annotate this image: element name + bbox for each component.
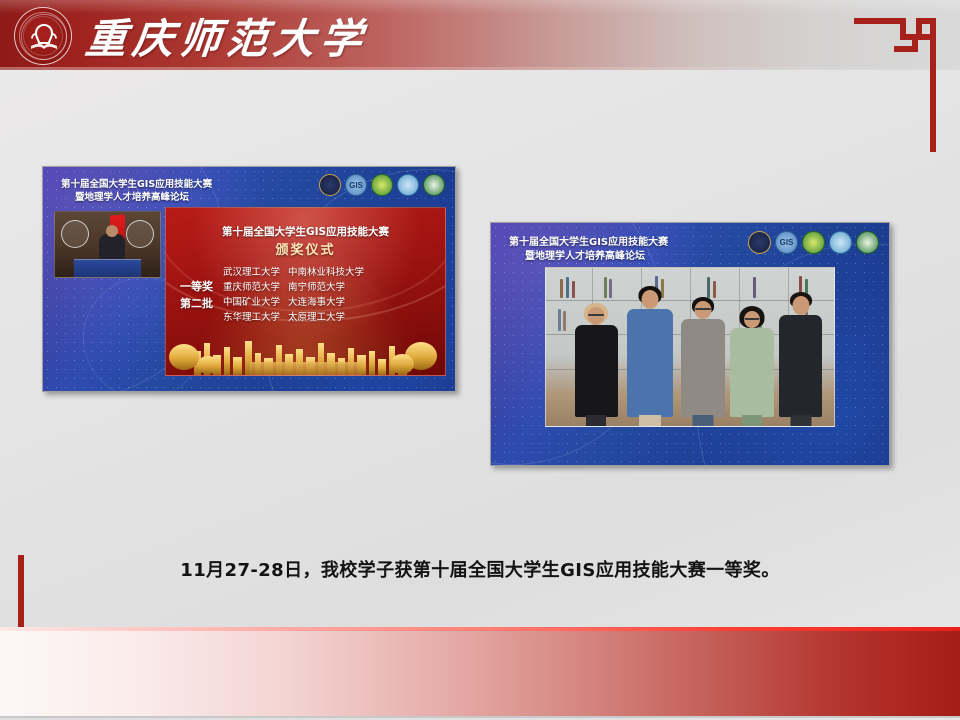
- prize-line-1: 一等奖: [180, 278, 213, 295]
- page-header: 重庆师范大学: [0, 0, 960, 70]
- student-figure: [627, 309, 673, 416]
- award-ceremony-photo[interactable]: 第十届全国大学生GIS应用技能大赛 暨地理学人才培养高峰论坛 GIS 第十届全国…: [42, 166, 456, 392]
- winner-item: 太原理工大学: [288, 309, 364, 323]
- winner-item: 武汉理工大学: [223, 264, 280, 278]
- forestry-emblem-icon: [371, 174, 393, 196]
- award-prize-label: 一等奖 第二批: [180, 264, 213, 323]
- student-figure: [681, 319, 724, 417]
- team-group-photo[interactable]: 第十届全国大学生GIS应用技能大赛 暨地理学人才培养高峰论坛 GIS: [490, 222, 890, 466]
- ocean-emblem-icon: [829, 231, 852, 254]
- gis-emblem-icon: GIS: [345, 174, 367, 196]
- emblem-row: GIS: [748, 231, 879, 254]
- banner-emblem-left-icon: [61, 220, 89, 248]
- students-photo-inset: [545, 267, 835, 427]
- ocean-emblem-icon: [397, 174, 419, 196]
- banner-emblem-right-icon: [126, 220, 154, 248]
- student-figure: [730, 328, 773, 416]
- conference-title-line2: 暨地理学人才培养高峰论坛: [525, 250, 645, 264]
- award-card-title: 第十届全国大学生GIS应用技能大赛: [166, 224, 445, 239]
- prize-line-2: 第二批: [180, 295, 213, 312]
- winner-item: 中南林业科技大学: [288, 264, 364, 278]
- stage-platform: [250, 362, 362, 375]
- award-announcement-card: 第十届全国大学生GIS应用技能大赛 颁奖仪式 一等奖 第二批 武汉理工大学 中南…: [165, 207, 446, 376]
- winner-item: 大连海事大学: [288, 294, 364, 308]
- emblem-row: GIS: [319, 174, 445, 196]
- winner-item: 中国矿业大学: [223, 294, 280, 308]
- conference-title-line2: 暨地理学人才培养高峰论坛: [75, 192, 189, 205]
- bottom-decorative-band: [0, 627, 960, 718]
- podium-desk: [74, 259, 141, 277]
- geography-emblem-icon: [856, 231, 879, 254]
- student-figure: [575, 325, 618, 417]
- conference-emblem-icon: [319, 174, 341, 196]
- winner-item: 重庆师范大学: [223, 279, 280, 293]
- university-name: 重庆师范大学: [83, 4, 372, 66]
- geography-emblem-icon: [423, 174, 445, 196]
- award-card-body: 一等奖 第二批 武汉理工大学 中南林业科技大学 重庆师范大学 南宁师范大学 中国…: [180, 264, 435, 323]
- speaker-podium-inset: [54, 211, 161, 278]
- winner-university-list: 武汉理工大学 中南林业科技大学 重庆师范大学 南宁师范大学 中国矿业大学 大连海…: [223, 264, 364, 323]
- conference-title-line1: 第十届全国大学生GIS应用技能大赛: [509, 236, 668, 250]
- conference-title-line1: 第十届全国大学生GIS应用技能大赛: [61, 179, 212, 192]
- university-emblem-icon: [14, 7, 72, 65]
- winner-item: 东华理工大学: [223, 309, 280, 323]
- award-card-subtitle: 颁奖仪式: [166, 239, 445, 258]
- band-highlight-line: [0, 627, 960, 631]
- gis-emblem-icon: GIS: [775, 231, 798, 254]
- student-figure: [779, 315, 822, 416]
- corner-ornament-top-right: [854, 10, 942, 160]
- forestry-emblem-icon: [802, 231, 825, 254]
- slide-canvas: 重庆师范大学: [0, 0, 960, 720]
- conference-emblem-icon: [748, 231, 771, 254]
- slide-caption: 11月27-28日，我校学子获第十届全国大学生GIS应用技能大赛一等奖。: [0, 556, 960, 582]
- winner-item: 南宁师范大学: [288, 279, 364, 293]
